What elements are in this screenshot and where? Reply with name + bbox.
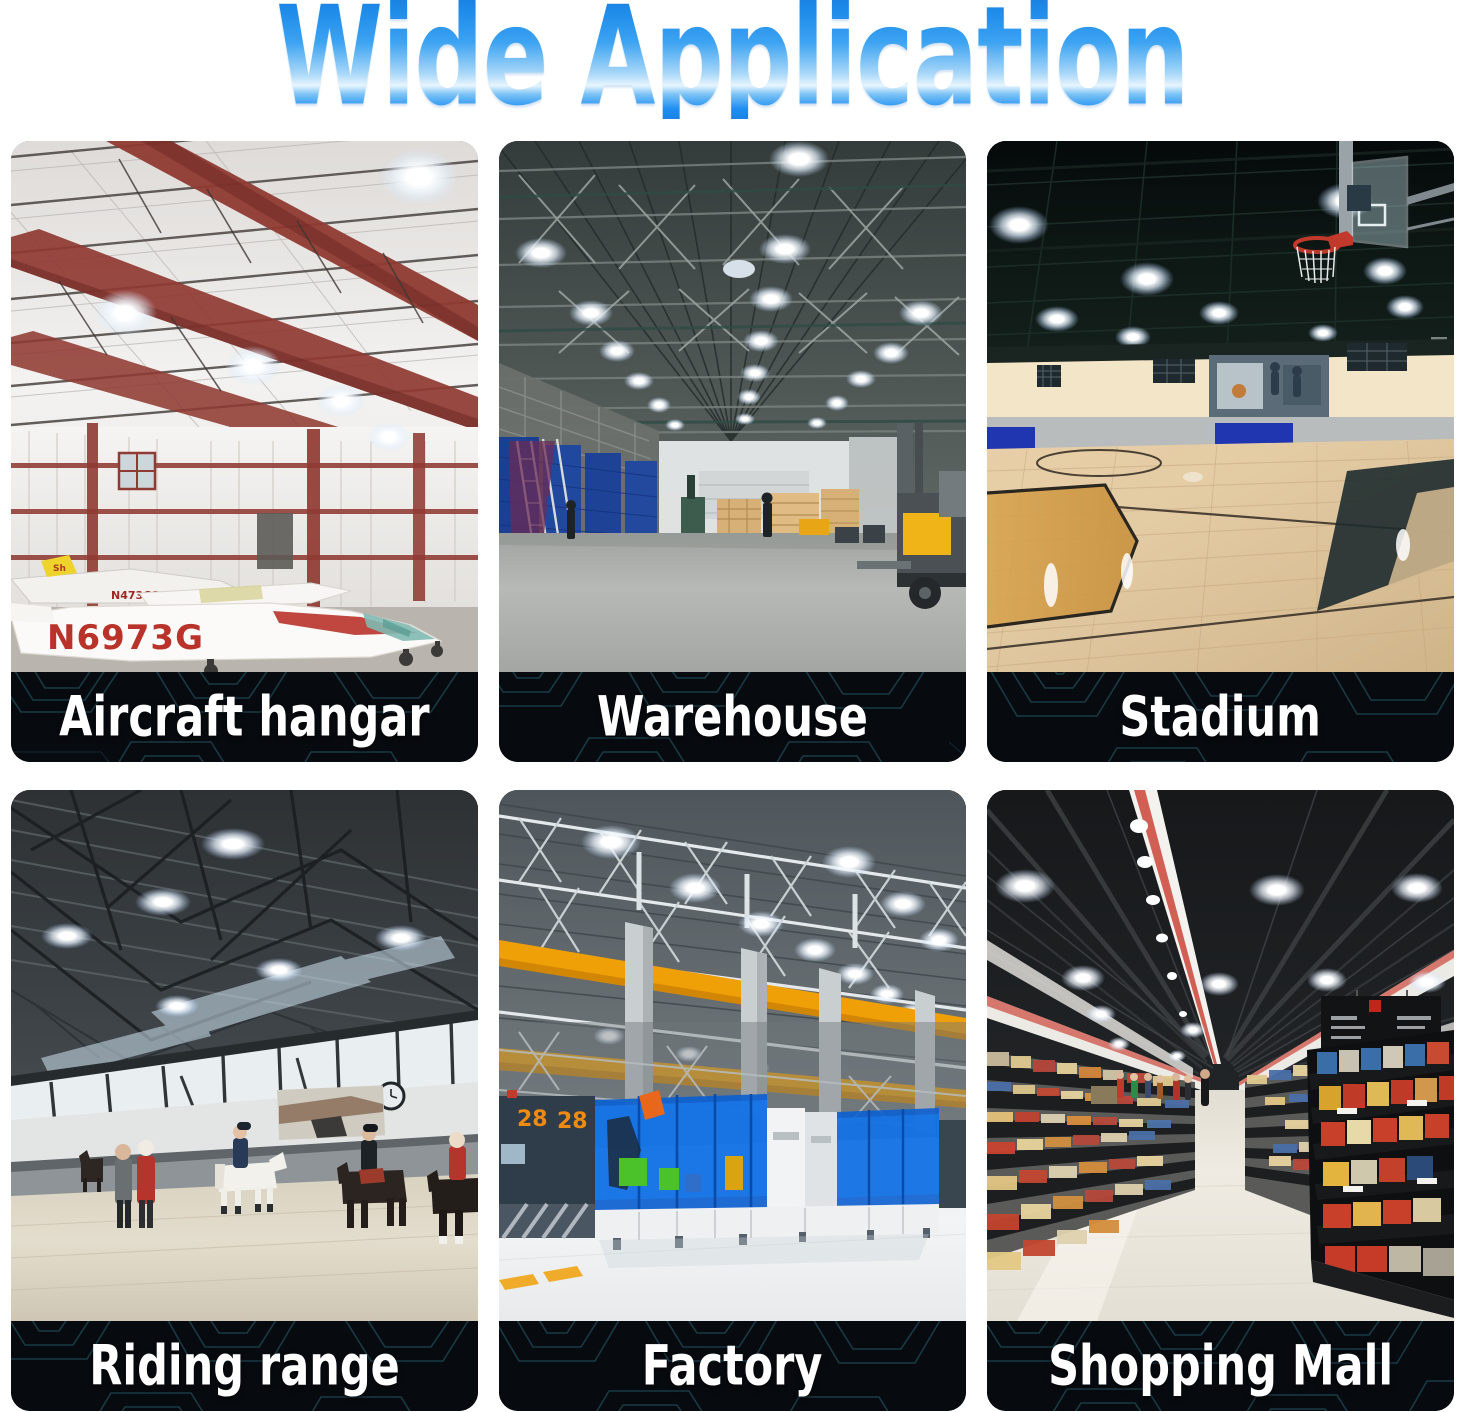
caption-text-warehouse: Warehouse: [499, 691, 966, 743]
caption-text-aircraft-hangar: Aircraft hangar: [11, 691, 478, 743]
caption-band-warehouse: Warehouse: [499, 672, 966, 762]
caption-text-riding-range: Riding range: [11, 1340, 478, 1392]
svg-text:Sh: Sh: [53, 564, 66, 574]
caption-band-riding-range: Riding range: [11, 1321, 478, 1411]
shopping-mall-photo: [987, 790, 1454, 1321]
page-title: Wide Application: [0, 0, 1465, 119]
caption-text-factory: Factory: [499, 1340, 966, 1392]
svg-text:N6973G: N6973G: [47, 618, 204, 658]
aircraft-hangar-illustration: Sh N473CS: [11, 141, 478, 672]
application-card-riding-range[interactable]: Riding range: [11, 790, 478, 1411]
riding-range-illustration: [11, 790, 478, 1321]
application-card-shopping-mall[interactable]: Shopping Mall: [987, 790, 1454, 1411]
application-card-aircraft-hangar[interactable]: Sh N473CS: [11, 141, 478, 762]
warehouse-photo: [499, 141, 966, 672]
factory-illustration: 28 28: [499, 790, 966, 1321]
caption-band-factory: Factory: [499, 1321, 966, 1411]
caption-text-stadium: Stadium: [987, 691, 1454, 743]
warehouse-illustration: [499, 141, 966, 672]
svg-text:28: 28: [557, 1109, 588, 1134]
shopping-mall-illustration: [987, 790, 1454, 1321]
application-card-warehouse[interactable]: Warehouse: [499, 141, 966, 762]
stadium-photo: [987, 141, 1454, 672]
application-card-factory[interactable]: 28 28: [499, 790, 966, 1411]
wide-application-poster: Wide Application: [0, 0, 1465, 1412]
application-grid: Sh N473CS: [11, 141, 1455, 1402]
caption-band-shopping-mall: Shopping Mall: [987, 1321, 1454, 1411]
caption-band-aircraft-hangar: Aircraft hangar: [11, 672, 478, 762]
svg-text:28: 28: [517, 1107, 548, 1132]
application-card-stadium[interactable]: Stadium: [987, 141, 1454, 762]
aircraft-hangar-photo: Sh N473CS: [11, 141, 478, 672]
riding-range-photo: [11, 790, 478, 1321]
caption-text-shopping-mall: Shopping Mall: [987, 1340, 1454, 1392]
caption-band-stadium: Stadium: [987, 672, 1454, 762]
factory-photo: 28 28: [499, 790, 966, 1321]
stadium-illustration: [987, 141, 1454, 672]
page-title-text: Wide Application: [276, 0, 1189, 119]
